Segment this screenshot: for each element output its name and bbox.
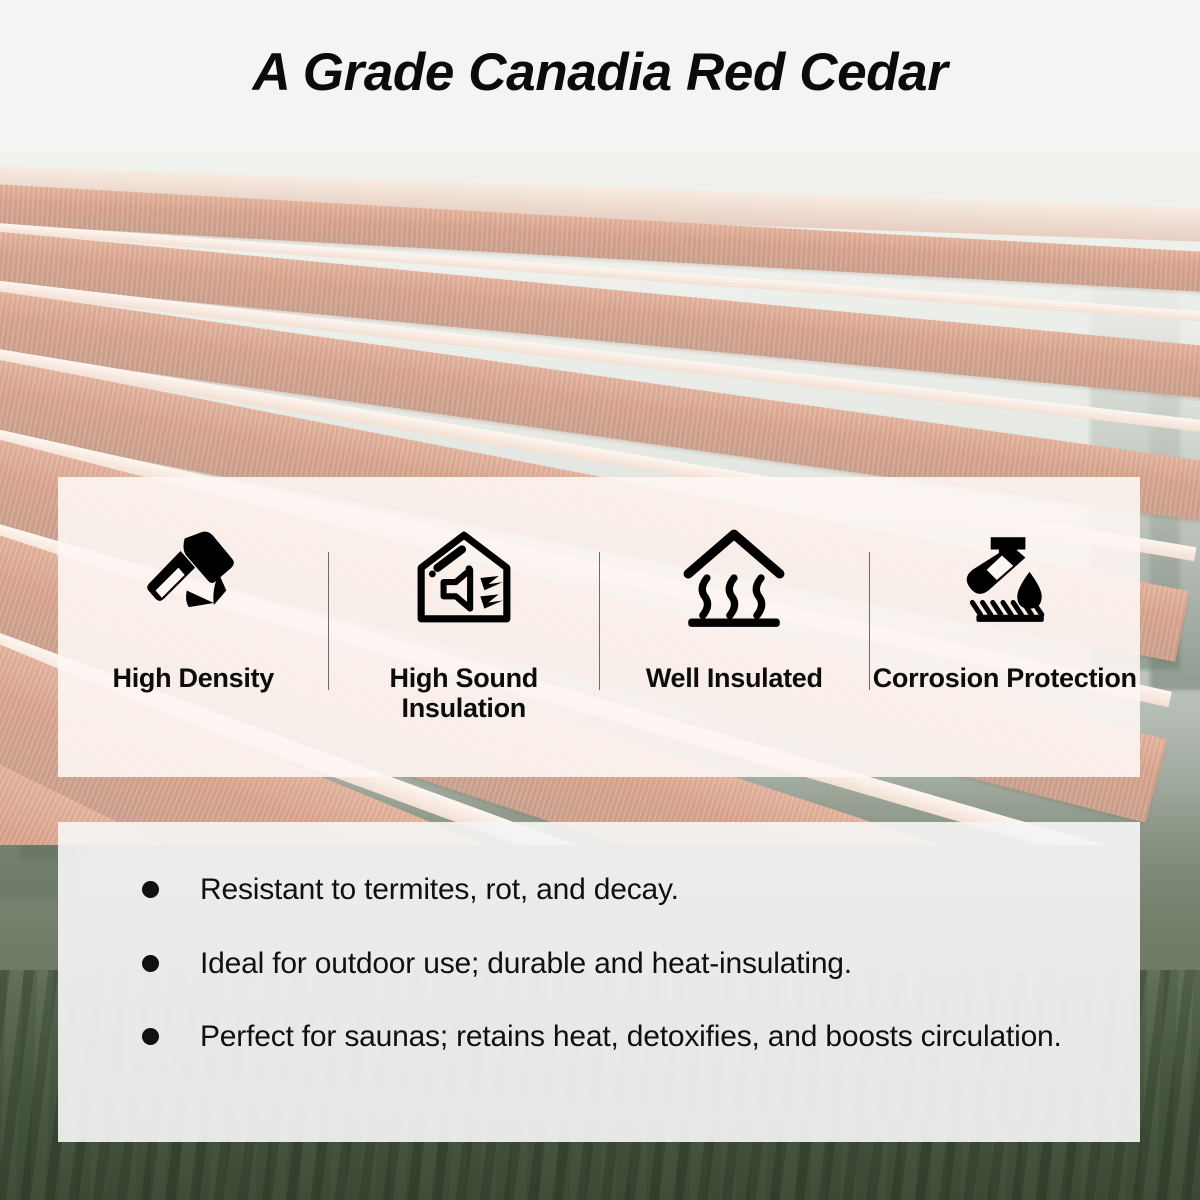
test-tube-droplet-icon	[945, 519, 1065, 637]
features-card: High Density High Sound Insulation	[58, 477, 1140, 777]
list-item: Ideal for outdoor use; durable and heat-…	[142, 944, 1080, 984]
product-infographic: A Grade Canadia Red Cedar	[0, 0, 1200, 1200]
bullet-dot-icon	[142, 1028, 159, 1045]
benefit-text: Perfect for saunas; retains heat, detoxi…	[200, 1017, 1062, 1057]
list-item: Perfect for saunas; retains heat, detoxi…	[142, 1017, 1080, 1057]
feature-high-density[interactable]: High Density	[58, 477, 329, 777]
feature-well-insulated[interactable]: Well Insulated	[599, 477, 870, 777]
bullet-dot-icon	[142, 955, 159, 972]
hammer-icon	[133, 519, 253, 637]
feature-divider	[869, 552, 870, 690]
feature-label: Well Insulated	[646, 663, 823, 693]
benefits-card: Resistant to termites, rot, and decay. I…	[58, 822, 1140, 1142]
feature-label: High Density	[113, 663, 274, 693]
benefit-text: Ideal for outdoor use; durable and heat-…	[200, 944, 852, 984]
feature-corrosion-protection[interactable]: Corrosion Protection	[870, 477, 1141, 777]
bullet-dot-icon	[142, 881, 159, 898]
list-item: Resistant to termites, rot, and decay.	[142, 870, 1080, 910]
benefit-text: Resistant to termites, rot, and decay.	[200, 870, 679, 910]
benefits-list: Resistant to termites, rot, and decay. I…	[142, 870, 1080, 1091]
feature-label: Corrosion Protection	[873, 663, 1137, 693]
feature-divider	[599, 552, 600, 690]
page-title: A Grade Canadia Red Cedar	[253, 42, 948, 103]
header-bar: A Grade Canadia Red Cedar	[0, 0, 1200, 152]
feature-divider	[328, 552, 329, 690]
feature-high-sound-insulation[interactable]: High Sound Insulation	[329, 477, 600, 777]
house-sound-insulation-icon	[404, 519, 524, 637]
feature-label: High Sound Insulation	[329, 663, 600, 723]
house-heat-waves-icon	[674, 519, 794, 637]
